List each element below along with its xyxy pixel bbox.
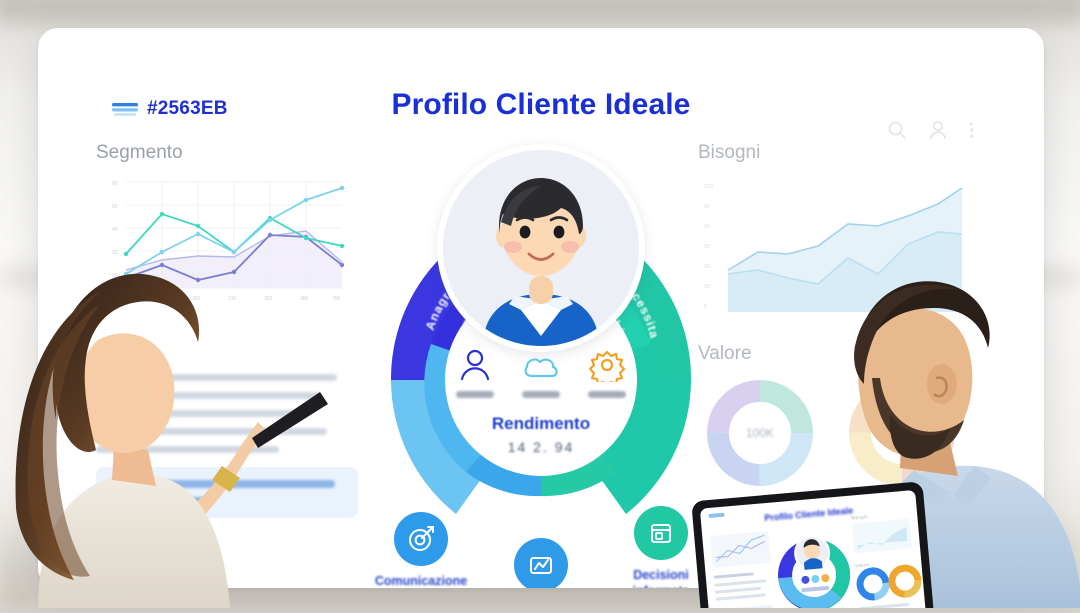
chart-icon — [527, 551, 555, 579]
segmento-line-chart: 6050 4030 200 0250 300310 350380 700 — [96, 174, 348, 306]
badge-comunicazione[interactable]: Comunicazione mirata — [367, 512, 475, 588]
page-title: Profilo Cliente Ideale — [60, 88, 1022, 122]
badge-circle — [394, 512, 448, 566]
callout-line — [110, 480, 335, 488]
avatar — [437, 144, 645, 352]
valore-title: Valore — [698, 343, 986, 365]
bisogni-title: Bisogni — [698, 142, 986, 164]
user-icon[interactable] — [929, 120, 947, 140]
svg-text:60: 60 — [112, 181, 118, 187]
imprese-section: Imprese — [96, 348, 358, 518]
kpi-value — [522, 391, 560, 398]
svg-text:350: 350 — [264, 296, 273, 302]
donut-center-label: 38% — [890, 426, 914, 440]
donut-center-label: 100K — [746, 426, 774, 440]
dashboard-topbar: #2563EB Profilo Cliente Ideale — [60, 64, 1022, 108]
calendar-icon — [647, 519, 675, 547]
user-outline-icon — [457, 348, 493, 382]
tablet-device[interactable]: Profilo Cliente Ideale — [688, 480, 1008, 608]
background-wall-band — [0, 0, 1080, 26]
badge-label: Comunicazione mirata — [367, 574, 475, 588]
callout-box — [96, 467, 358, 518]
badge-circle — [634, 506, 688, 560]
kpi-user — [447, 348, 503, 398]
svg-text:30: 30 — [112, 250, 118, 256]
list-item — [96, 374, 337, 381]
badge-contenuti[interactable]: Contenuti pertinenti — [487, 538, 595, 588]
badge-circle — [514, 538, 568, 588]
top-actions — [887, 120, 974, 140]
left-column: Segmento — [96, 142, 358, 518]
kpi-icons — [437, 348, 645, 398]
kpi-block: Rendimento 14 2. 94 — [437, 348, 645, 455]
imprese-title: Imprese — [96, 348, 358, 365]
svg-text:0: 0 — [122, 296, 125, 302]
svg-text:380: 380 — [300, 296, 309, 302]
list-item — [96, 392, 321, 399]
kpi-title: Rendimento — [437, 414, 645, 434]
search-icon[interactable] — [887, 120, 907, 140]
list-item — [96, 446, 279, 453]
svg-text:40: 40 — [112, 227, 118, 233]
kpi-value — [588, 391, 626, 398]
target-icon — [406, 524, 436, 554]
callout-line — [110, 497, 208, 505]
list-item — [96, 410, 300, 417]
segmento-title: Segmento — [96, 142, 358, 164]
cloud-outline-icon — [521, 352, 561, 382]
customer-profile-wheel: Anagrafica Necessita Comportamento Obiet… — [361, 140, 721, 560]
badge-label-line1: Decisioni — [633, 568, 689, 582]
svg-text:310: 310 — [228, 296, 237, 302]
kpi-sub: 14 2. 94 — [437, 439, 645, 455]
kpi-gear — [579, 348, 635, 398]
svg-text:300: 300 — [192, 296, 201, 302]
kpi-value — [456, 391, 494, 398]
svg-text:20: 20 — [112, 273, 118, 279]
more-vertical-icon[interactable] — [969, 120, 974, 140]
svg-text:250: 250 — [156, 296, 165, 302]
tablet-valore-label: Valore — [855, 562, 870, 569]
badge-label-line1: Comunicazione — [375, 574, 467, 588]
list-item — [96, 428, 327, 435]
svg-text:0: 0 — [112, 287, 115, 293]
gear-outline-icon — [589, 348, 625, 382]
kpi-cloud — [513, 352, 569, 398]
bisogni-area-chart: 10080 6050 3020 0 — [698, 174, 986, 325]
badge-row: Comunicazione mirata Contenuti pertinent… — [361, 512, 721, 588]
svg-text:700: 700 — [332, 296, 341, 302]
svg-text:50: 50 — [112, 204, 118, 210]
badge-label-line2: informate — [633, 584, 690, 588]
